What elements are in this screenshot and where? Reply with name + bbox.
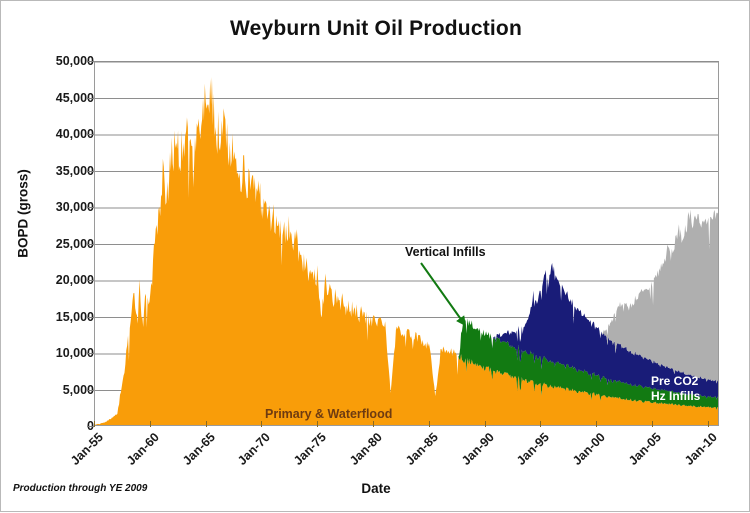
x-tick-mark <box>150 421 151 427</box>
y-tick-label: 50,000 <box>8 54 94 68</box>
y-tick-mark <box>87 207 94 208</box>
x-tick-mark <box>94 421 95 427</box>
x-tick-label: Jan-05 <box>607 430 664 487</box>
y-tick-label: 35,000 <box>8 164 94 178</box>
x-tick-label: Jan-75 <box>273 430 330 487</box>
x-tick-label: Jan-80 <box>328 430 385 487</box>
series-label-pre-co2-hz-infills: Pre CO2 Hz Infills <box>651 374 700 403</box>
y-tick-label: 5,000 <box>8 383 94 397</box>
y-tick-mark <box>87 98 94 99</box>
x-tick-mark <box>540 421 541 427</box>
x-tick-label: Jan-55 <box>49 430 106 487</box>
x-tick-mark <box>485 421 486 427</box>
y-tick-mark <box>87 353 94 354</box>
x-tick-label: Jan-70 <box>217 430 274 487</box>
annotation-vertical-infills: Vertical Infills <box>405 245 486 260</box>
x-axis-ticks: Jan-55Jan-60Jan-65Jan-70Jan-75Jan-80Jan-… <box>1 426 750 486</box>
x-tick-label: Jan-95 <box>496 430 553 487</box>
x-tick-mark <box>652 421 653 427</box>
page-title: Weyburn Unit Oil Production <box>1 17 750 41</box>
x-tick-label: Jan-10 <box>663 430 720 487</box>
y-tick-mark <box>87 244 94 245</box>
y-tick-mark <box>87 390 94 391</box>
y-tick-mark <box>87 61 94 62</box>
x-tick-mark <box>596 421 597 427</box>
plot-area: Primary & Waterflood Pre CO2 Hz Infills … <box>94 61 719 426</box>
series-label-primary-waterflood: Primary & Waterflood <box>265 407 392 422</box>
x-tick-mark <box>261 421 262 427</box>
x-tick-mark <box>206 421 207 427</box>
x-tick-label: Jan-85 <box>384 430 441 487</box>
x-tick-label: Jan-90 <box>440 430 497 487</box>
y-tick-mark <box>87 134 94 135</box>
x-tick-label: Jan-00 <box>552 430 609 487</box>
y-tick-label: 15,000 <box>8 310 94 324</box>
x-tick-mark <box>708 421 709 427</box>
y-tick-mark <box>87 171 94 172</box>
chart-figure: Weyburn Unit Oil Production BOPD (gross)… <box>0 0 750 512</box>
y-tick-label: 10,000 <box>8 346 94 360</box>
x-tick-label: Jan-65 <box>161 430 218 487</box>
y-tick-label: 30,000 <box>8 200 94 214</box>
y-tick-mark <box>87 280 94 281</box>
x-tick-mark <box>373 421 374 427</box>
footnote: Production through YE 2009 <box>13 483 147 494</box>
y-tick-label: 25,000 <box>8 237 94 251</box>
x-tick-mark <box>429 421 430 427</box>
plot-svg <box>95 62 719 426</box>
x-tick-label: Jan-60 <box>105 430 162 487</box>
y-tick-label: 45,000 <box>8 91 94 105</box>
x-tick-mark <box>317 421 318 427</box>
y-tick-mark <box>87 317 94 318</box>
y-tick-label: 40,000 <box>8 127 94 141</box>
y-tick-label: 20,000 <box>8 273 94 287</box>
